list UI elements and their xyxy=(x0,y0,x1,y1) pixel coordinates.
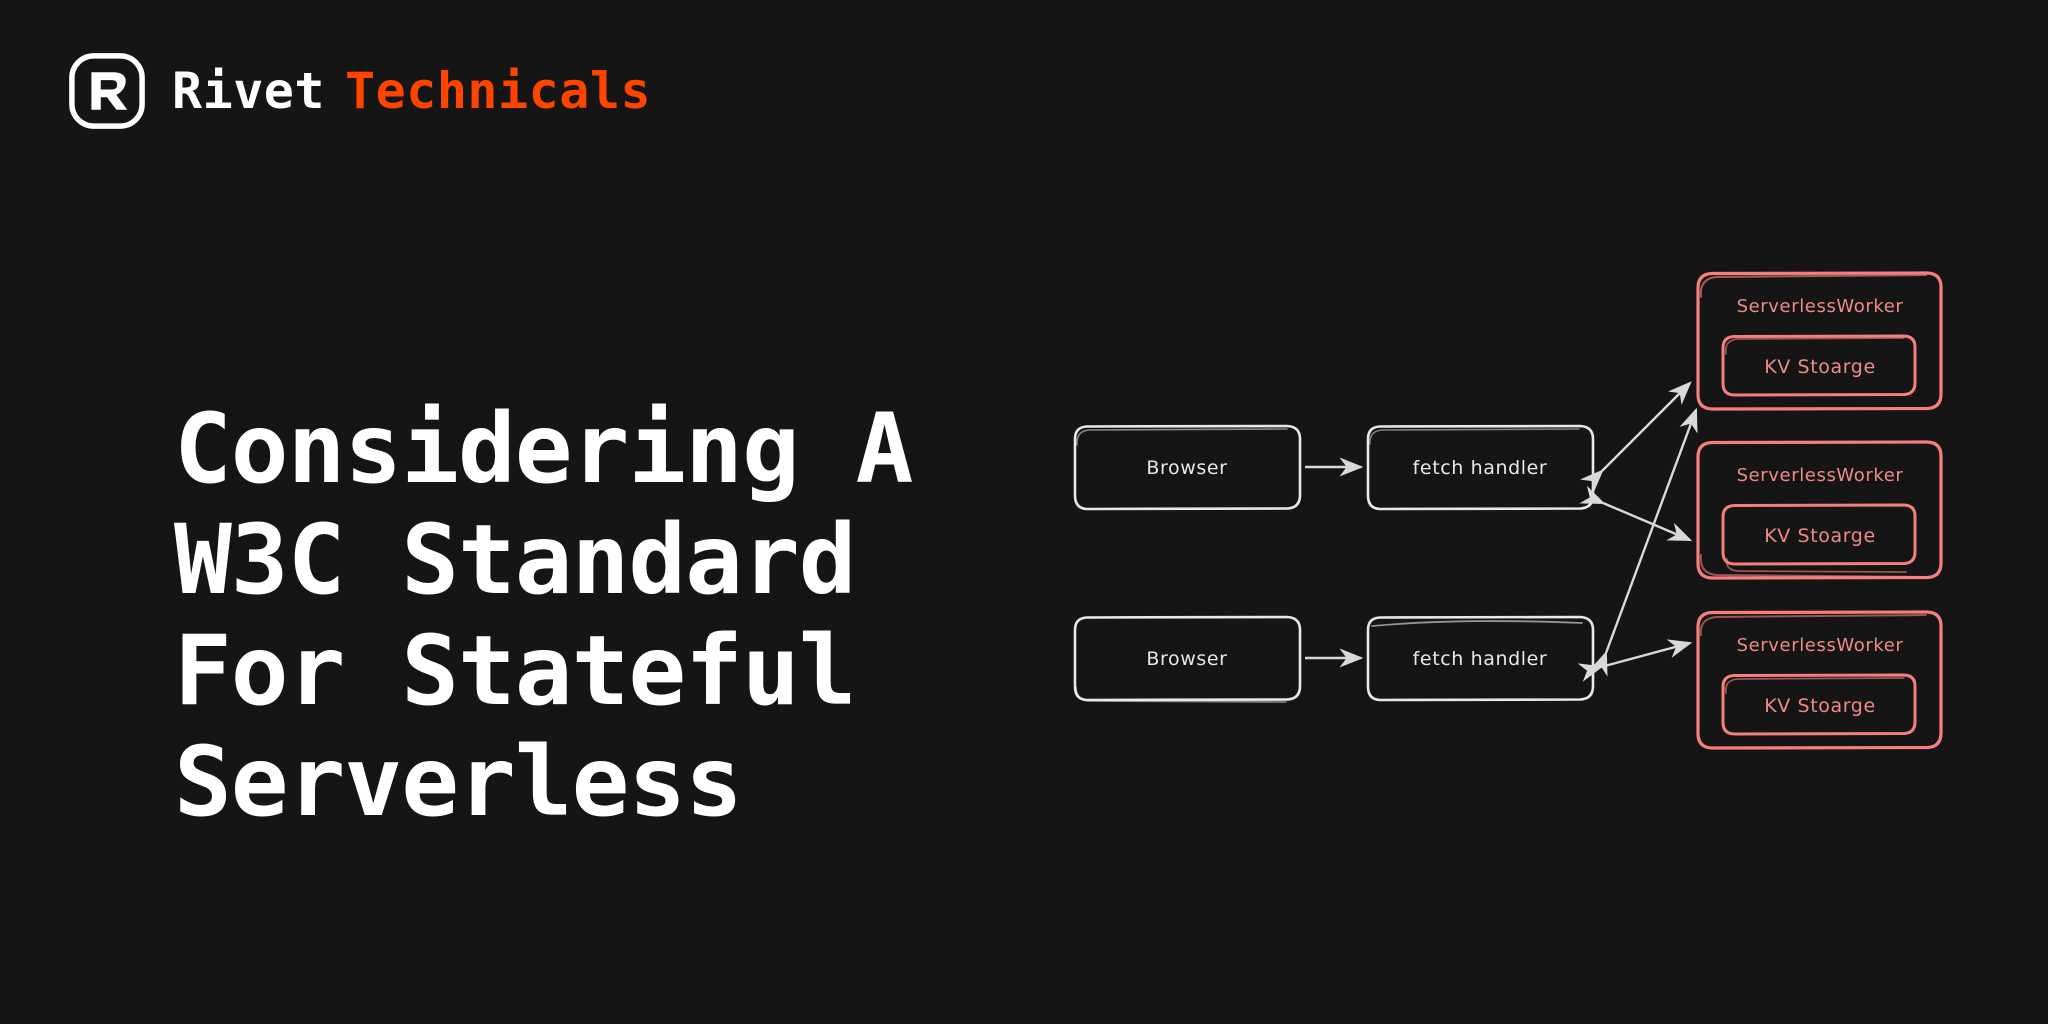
brand-suffix: Technicals xyxy=(345,66,651,116)
brand-header: Rivet Technicals xyxy=(68,52,651,130)
node-browser-2[interactable]: Browser xyxy=(1075,617,1300,702)
node-kv-storage-3-label: KV Stoarge xyxy=(1764,695,1876,717)
node-kv-storage-1-label: KV Stoarge xyxy=(1764,356,1876,378)
node-kv-storage-3[interactable]: KV Stoarge xyxy=(1723,675,1915,734)
node-serverless-worker-3-label: ServerlessWorker xyxy=(1737,635,1904,656)
edge-fetch-handler-2-to-serverless-worker-1 xyxy=(1606,410,1696,653)
node-fetch-handler-1[interactable]: fetch handler xyxy=(1368,426,1593,509)
node-serverless-worker-2[interactable]: ServerlessWorker KV Stoarge xyxy=(1698,442,1941,578)
rivet-logo-icon xyxy=(68,52,146,130)
node-serverless-worker-1-label: ServerlessWorker xyxy=(1737,296,1904,317)
node-browser-1[interactable]: Browser xyxy=(1075,426,1300,509)
node-browser-1-label: Browser xyxy=(1146,457,1227,479)
node-kv-storage-2[interactable]: KV Stoarge xyxy=(1723,505,1915,572)
page-canvas: Rivet Technicals Considering A W3C Stand… xyxy=(0,0,2048,1024)
node-serverless-worker-2-label: ServerlessWorker xyxy=(1737,465,1904,486)
node-serverless-worker-1[interactable]: ServerlessWorker KV Stoarge xyxy=(1698,273,1941,409)
node-fetch-handler-2[interactable]: fetch handler xyxy=(1368,617,1593,700)
architecture-diagram: Browser Browser fetch handler fetch hand… xyxy=(1050,255,1950,785)
node-kv-storage-1[interactable]: KV Stoarge xyxy=(1723,336,1915,395)
node-fetch-handler-2-label: fetch handler xyxy=(1413,648,1548,670)
edge-fetch-handler-2-to-serverless-worker-3 xyxy=(1601,643,1690,667)
node-fetch-handler-1-label: fetch handler xyxy=(1413,457,1548,479)
edge-fetch-handler-1-to-serverless-worker-1 xyxy=(1602,383,1690,471)
node-browser-2-label: Browser xyxy=(1146,648,1227,670)
diagram-svg: Browser Browser fetch handler fetch hand… xyxy=(1050,255,1950,785)
brand-name: Rivet xyxy=(172,66,325,116)
node-kv-storage-2-label: KV Stoarge xyxy=(1764,525,1876,547)
page-title: Considering A W3C Standard For Stateful … xyxy=(174,394,934,838)
edge-fetch-handler-1-to-serverless-worker-2 xyxy=(1603,503,1690,540)
node-serverless-worker-3[interactable]: ServerlessWorker KV Stoarge xyxy=(1698,612,1941,748)
brand-wordmark: Rivet Technicals xyxy=(172,66,651,116)
